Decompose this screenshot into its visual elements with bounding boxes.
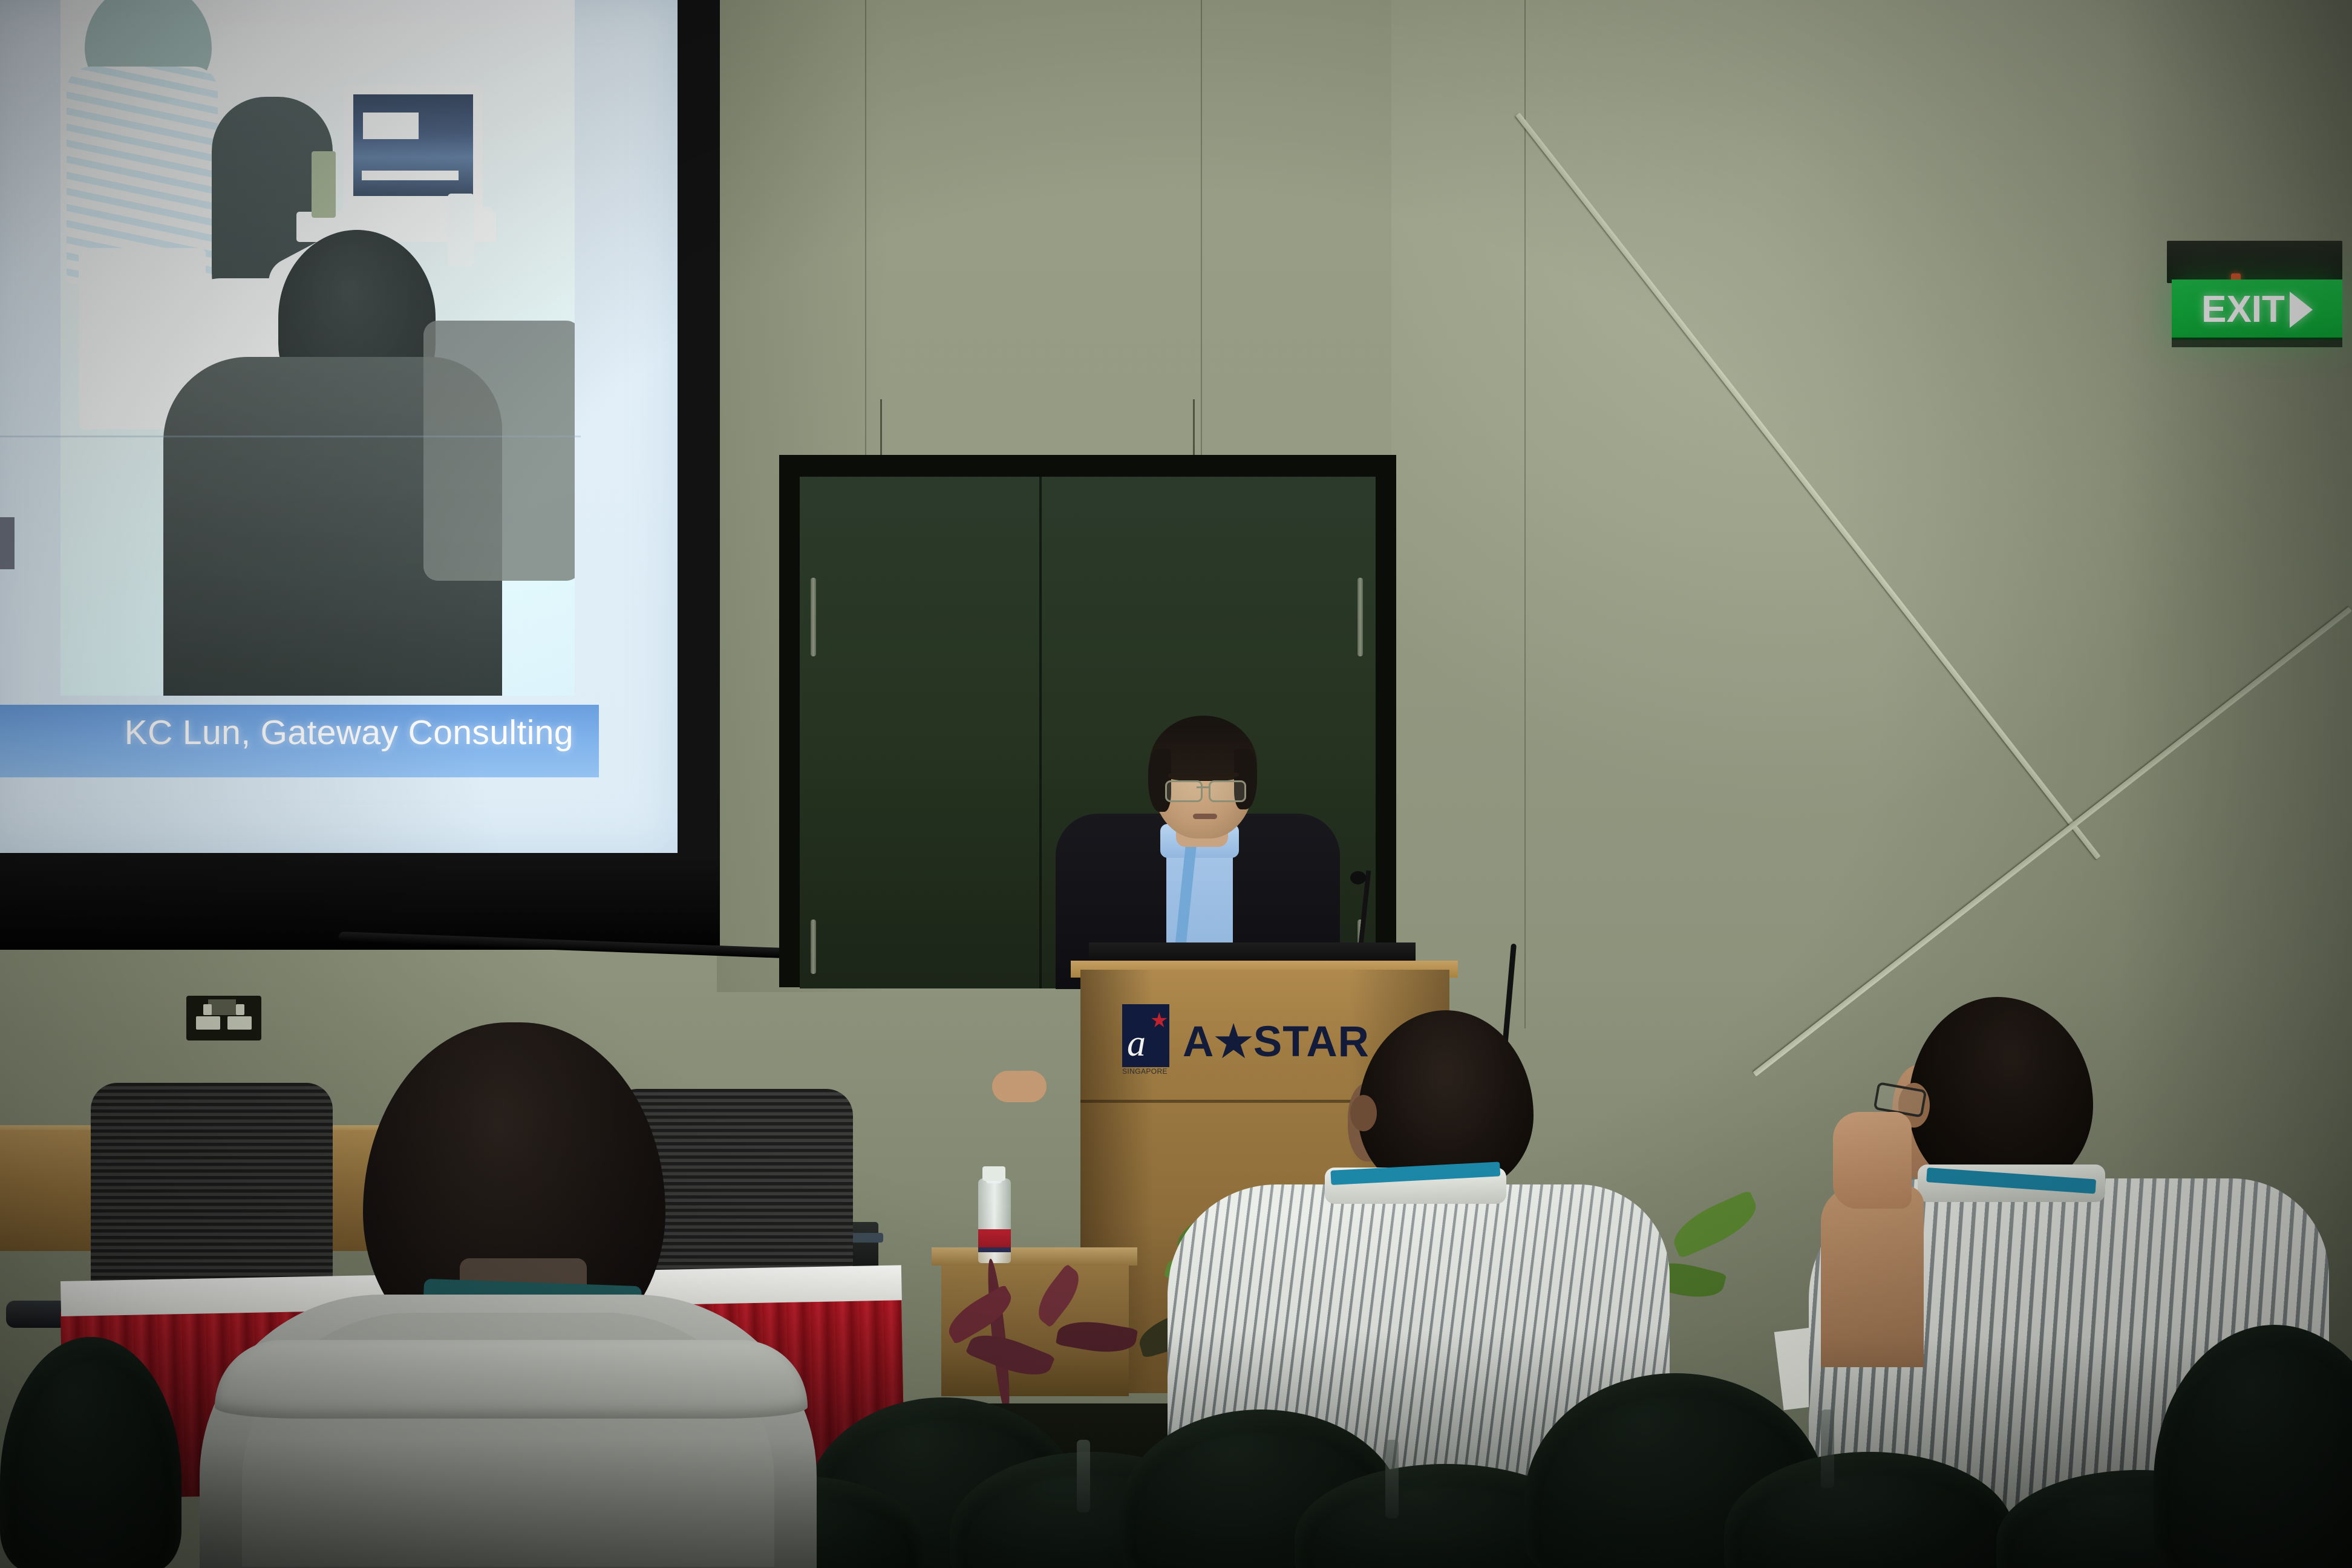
door-centre-gap [1039, 477, 1042, 988]
slide-left-marker [0, 517, 15, 569]
audience-hoodie-hood-rim [215, 1340, 808, 1419]
auditorium-seat-hinge [1077, 1440, 1090, 1512]
exit-sign-content: EXIT [2177, 283, 2337, 336]
wall-seam [1201, 0, 1202, 460]
auditorium-seat-hinge [1821, 1410, 1834, 1488]
exit-sign-label: EXIT [2201, 291, 2285, 328]
slide-chair [423, 321, 575, 581]
slide-book [312, 151, 336, 218]
water-bottle-cap [982, 1166, 1005, 1181]
speaker-hand [992, 1071, 1047, 1102]
astar-logo: a ★ SINGAPORE A★STAR [1122, 1004, 1388, 1083]
wall-seam [1524, 0, 1526, 1028]
audience-centre-ear [1350, 1095, 1377, 1131]
astar-logo-star-icon: ★ [1150, 1011, 1168, 1030]
speaker-eyebrow-left [1168, 774, 1197, 778]
speaker-eyebrow-right [1210, 773, 1239, 777]
door-hanging-wire [880, 399, 882, 457]
glasses-lens-right-icon [1209, 780, 1246, 802]
audience-right-hand [1833, 1112, 1912, 1209]
microphone-capsule-icon [1350, 871, 1366, 884]
door-lower-plate-left [811, 920, 816, 974]
slide-monitor-window [363, 113, 419, 139]
slide-caption-text: KC Lun, Gateway Consulting [0, 713, 587, 753]
audience-hoodie-shading [200, 1440, 817, 1568]
exit-sign-underside [2172, 338, 2342, 347]
photo-scene: EXIT KC Lun, Gateway Consulting [0, 0, 2352, 1568]
slide-monitor-bar [362, 171, 459, 180]
slide-monitor-screen [353, 94, 473, 196]
auditorium-seat-hinge [1385, 1440, 1399, 1518]
astar-wordmark: A★STAR [1183, 1016, 1370, 1067]
exit-sign: EXIT [2172, 279, 2342, 340]
water-bottle-label-stripe [978, 1247, 1011, 1252]
astar-logo-singapore-label: SINGAPORE [1122, 1067, 1169, 1076]
glasses-lens-left-icon [1165, 780, 1203, 802]
slide-rule-line [0, 436, 581, 437]
exit-arrow-icon [2290, 292, 2313, 328]
glasses-bridge-icon [1197, 786, 1210, 788]
side-cabinet-top [932, 1247, 1137, 1266]
exit-sign-housing [2167, 241, 2342, 283]
wall-socket-plate [208, 999, 236, 1015]
door-handle-left[interactable] [811, 578, 816, 656]
wall-socket-switch-left[interactable] [203, 1004, 212, 1015]
door-handle-right[interactable] [1357, 578, 1363, 656]
wall-socket-outlet-right[interactable] [227, 1016, 252, 1030]
slide-cup [448, 194, 474, 266]
slide-photo [60, 0, 575, 696]
wall-socket-outlet-left[interactable] [196, 1016, 220, 1030]
speaker-mouth [1193, 814, 1217, 819]
wall-socket-switch-right[interactable] [236, 1004, 244, 1015]
door-hanging-wire [1193, 399, 1195, 457]
